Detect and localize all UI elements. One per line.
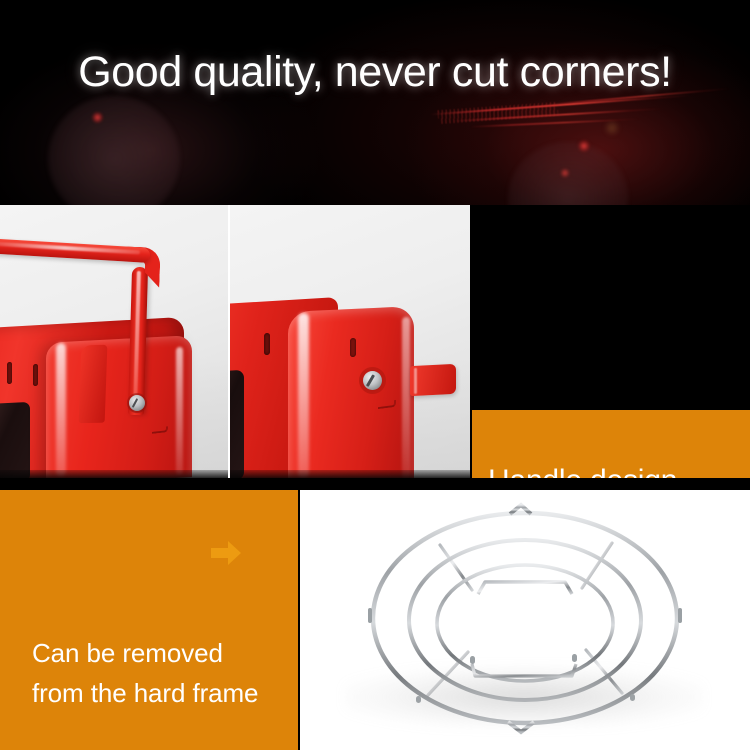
appliance-dark-panel (230, 370, 244, 480)
screw-icon (129, 395, 145, 411)
door-edge-highlight (176, 347, 183, 475)
handle-bracket (79, 345, 108, 423)
headline-text: Good quality, never cut corners! (0, 46, 750, 98)
header-banner: Good quality, never cut corners! (0, 0, 750, 205)
wire-rack-photo (300, 490, 750, 750)
orange-arrow-icon (211, 541, 241, 565)
bottom-band: Can be removed from the hard frame (0, 490, 750, 750)
removable-rack-label: Can be removed from the hard frame (32, 633, 298, 713)
door-highlight (298, 313, 309, 479)
removable-rack-line1: Can be removed (32, 633, 298, 673)
handle-attached-photo (0, 205, 228, 480)
door-highlight (56, 343, 66, 478)
lens-flare-dot (560, 168, 570, 178)
lens-flare-dot (604, 120, 620, 136)
vent-slot (33, 364, 38, 386)
mounting-tab (410, 364, 456, 396)
lens-flare-dot (578, 140, 590, 152)
black-divider (0, 478, 750, 490)
vent-slot (350, 338, 356, 357)
door-edge-highlight (402, 317, 410, 479)
lens-flare-dot (92, 112, 103, 123)
screw-icon (363, 371, 382, 390)
rack-drop-shadow (344, 666, 704, 728)
vent-slot (264, 333, 270, 355)
appliance-door (46, 335, 192, 480)
handle-detail-photo (230, 205, 470, 480)
appliance-dark-panel (0, 402, 30, 480)
middle-band: Handle design (0, 205, 750, 480)
vent-slot (7, 362, 12, 384)
product-feature-image: Good quality, never cut corners! (0, 0, 750, 750)
removable-rack-panel: Can be removed from the hard frame (0, 490, 298, 750)
removable-rack-line2: from the hard frame (32, 673, 298, 713)
